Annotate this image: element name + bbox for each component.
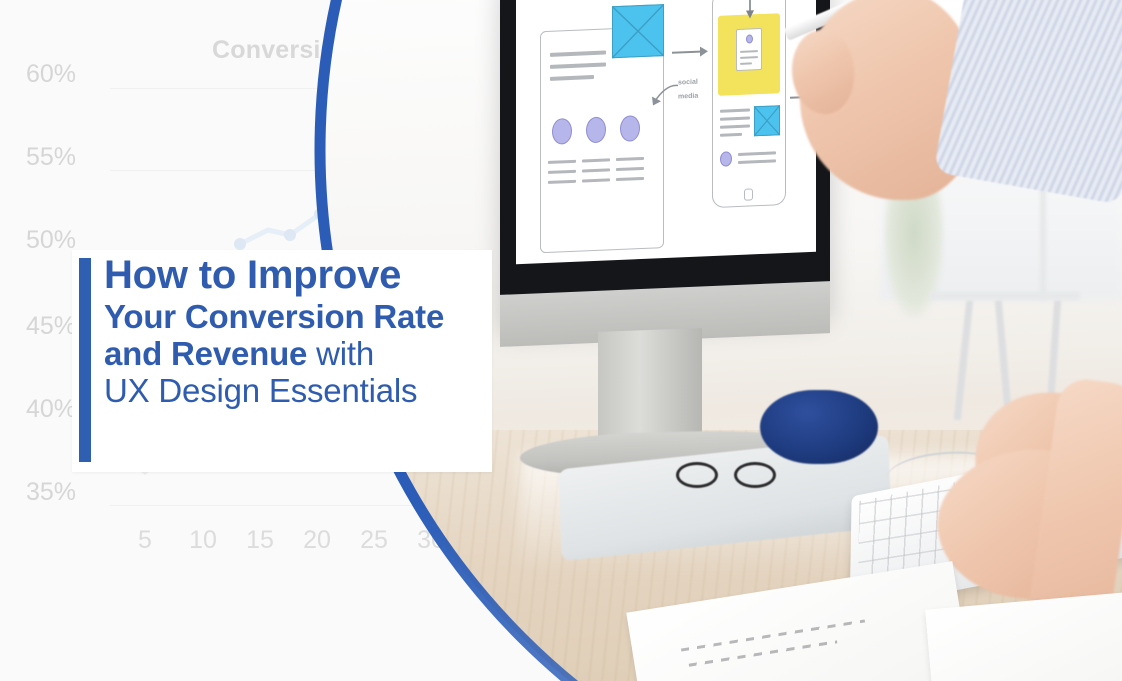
annotation-label: social [678, 79, 698, 87]
bowl [760, 390, 878, 464]
flow-arrow-icon [672, 44, 708, 60]
annotation-arrow-icon [650, 81, 680, 108]
hero-banner: Conversion Rates by time elapsed 60% 55%… [0, 0, 1122, 681]
chair-seat [930, 292, 1080, 300]
headline-line-2: Your Conversion Rate [104, 300, 496, 334]
monitor-stand-neck [598, 328, 702, 448]
headline-line-3: and Revenue with [104, 337, 496, 371]
headline-line-3-bold: and Revenue [104, 335, 307, 372]
glasses-lens [734, 462, 776, 488]
annotation-label: media [678, 93, 698, 101]
page-title: How to Improve Your Conversion Rate and … [104, 255, 496, 408]
down-arrow-icon [744, 0, 756, 19]
headline-line-1: How to Improve [104, 255, 496, 296]
headline-line-3-light: with [316, 335, 374, 372]
glasses-lens [676, 462, 718, 488]
placeholder-cross-icon [612, 4, 664, 58]
headline-accent-bar [79, 258, 91, 462]
shirt-sleeve [933, 0, 1122, 205]
index-finger [792, 30, 854, 114]
home-button [744, 188, 753, 200]
eyeglasses [676, 462, 784, 492]
placeholder-cross-icon [754, 105, 780, 136]
monitor-screen: social media [516, 0, 816, 264]
headline-line-4: UX Design Essentials [104, 374, 496, 408]
